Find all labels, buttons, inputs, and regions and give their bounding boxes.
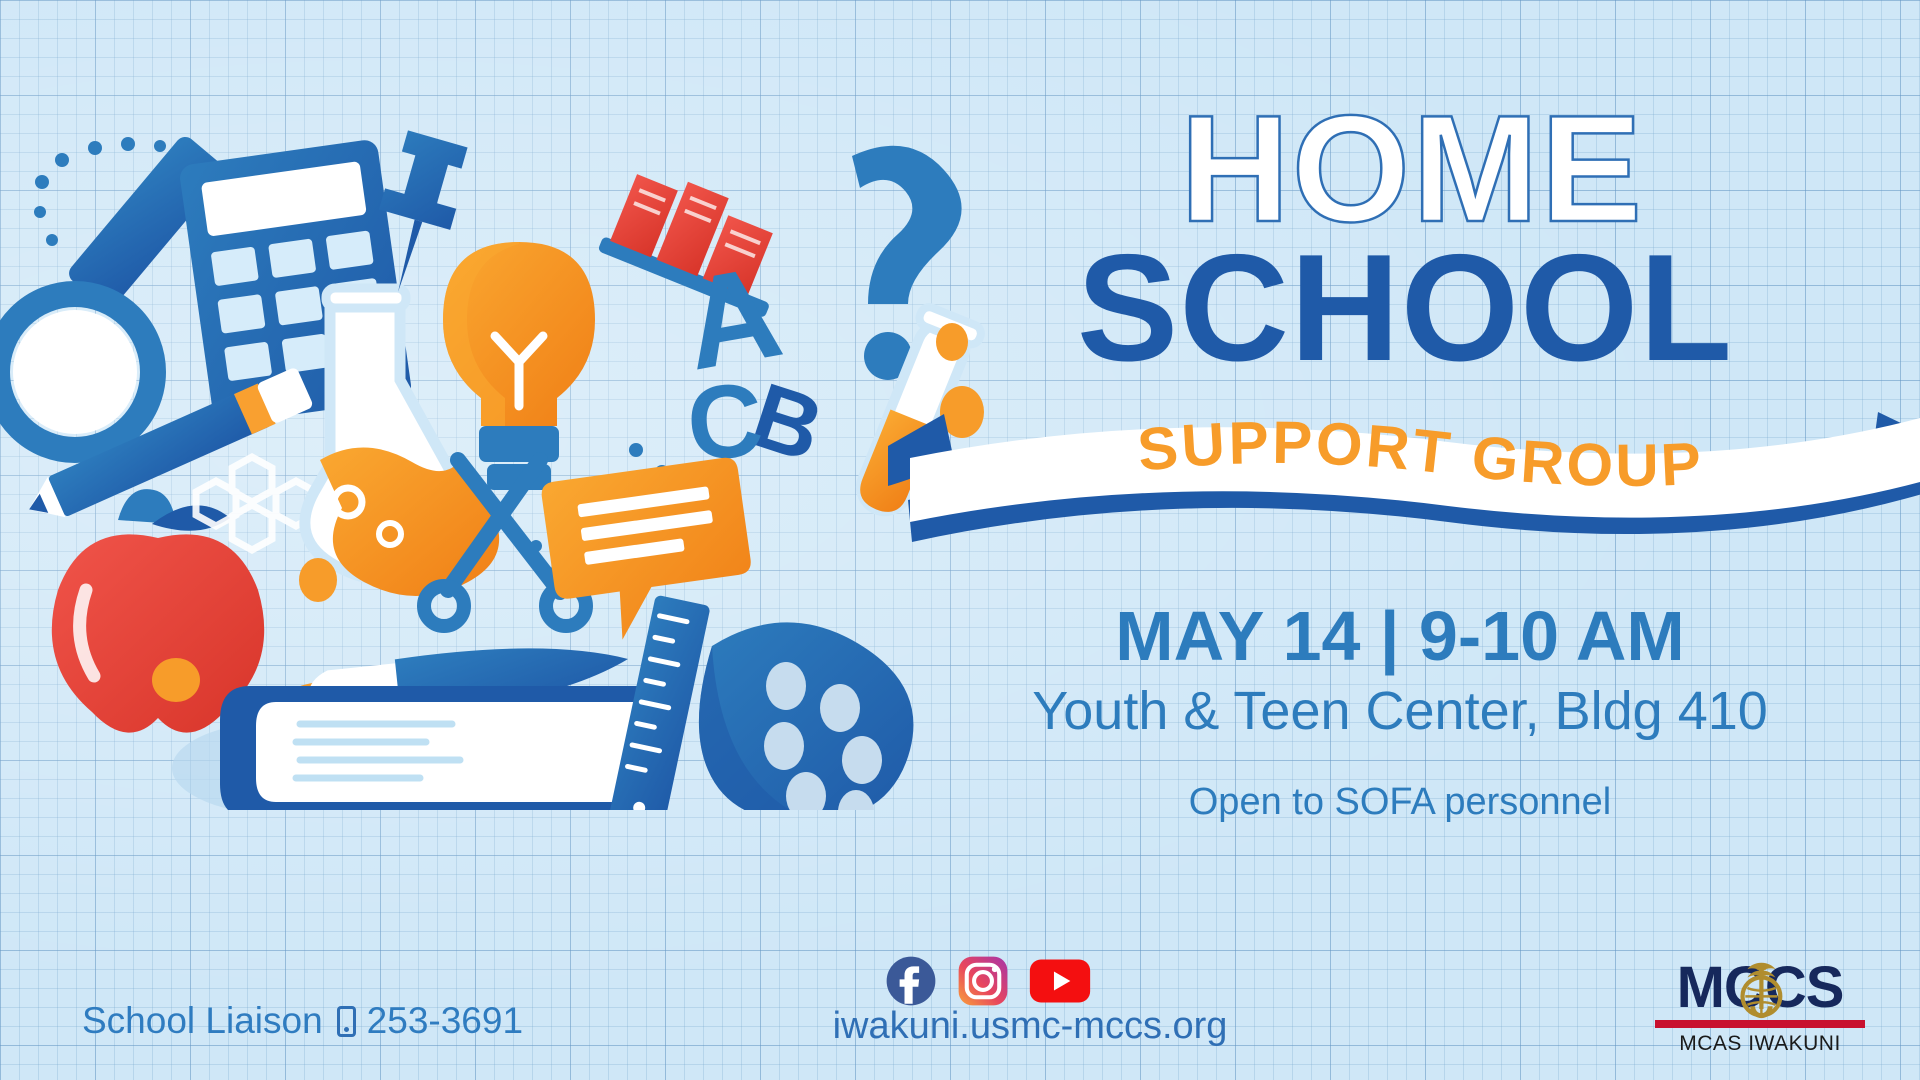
abc-letters-icon: A B C [674,237,835,482]
event-eligibility: Open to SOFA personnel [900,781,1900,824]
facebook-icon [885,955,937,1007]
book-icon [172,686,642,810]
instagram-icon [957,955,1009,1007]
mccs-wordmark: MCCS [1655,960,1865,1015]
headline-school: SCHOOL [900,234,1900,383]
lightbulb-icon [443,242,595,490]
school-liaison-contact: School Liaison 253-3691 [82,1000,523,1042]
poster-canvas: A B C [0,0,1920,1080]
eagle-globe-anchor-icon [1726,957,1796,1027]
instagram-link[interactable] [957,955,1009,1007]
youtube-link[interactable] [1029,958,1091,1004]
social-links [885,955,1091,1007]
school-liaison-label: School Liaison [82,1000,323,1042]
mccs-logo: MCCS MCAS IWAKUNI [1655,960,1865,1056]
support-group-ribbon: SUPPORT GROUP [888,408,1920,568]
youtube-icon [1029,958,1091,1004]
mccs-installation-name: MCAS IWAKUNI [1655,1032,1865,1056]
mobile-phone-icon [337,1006,356,1037]
school-supplies-illustration: A B C [0,120,1000,810]
palette-icon [699,622,914,810]
event-details: MAY 14 | 9-10 AM Youth & Teen Center, Bl… [900,600,1900,824]
school-liaison-phone[interactable]: 253-3691 [367,1000,523,1042]
facebook-link[interactable] [885,955,937,1007]
event-date-time: MAY 14 | 9-10 AM [900,600,1900,674]
event-venue: Youth & Teen Center, Bldg 410 [900,678,1900,746]
headline-home: HOME [900,95,1900,244]
headline-block: HOME SCHOOL [900,95,1900,383]
hexagons-icon [196,457,316,550]
website-url[interactable]: iwakuni.usmc-mccs.org [790,1005,1270,1048]
